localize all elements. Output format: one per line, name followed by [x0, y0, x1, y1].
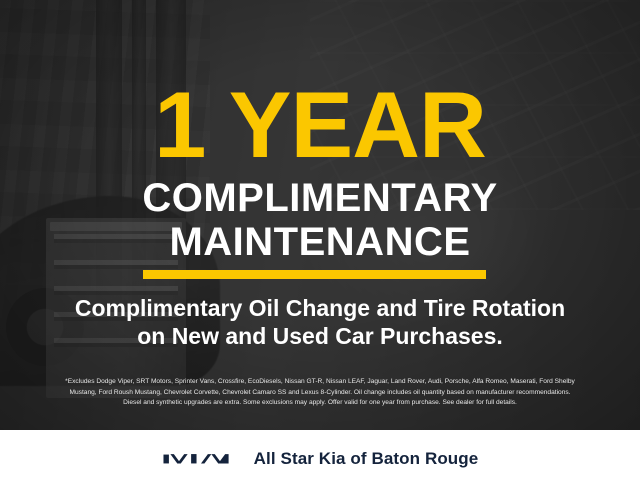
disclaimer-line-3: Diesel and synthetic upgrades are extra.… [12, 398, 628, 409]
banner-content: 1 YEAR COMPLIMENTARY MAINTENANCE Complim… [0, 0, 640, 488]
promotional-banner: 1 YEAR COMPLIMENTARY MAINTENANCE Complim… [0, 0, 640, 488]
headline-secondary-line2: MAINTENANCE [0, 222, 640, 262]
disclaimer-line-1: *Excludes Dodge Viper, SRT Motors, Sprin… [12, 377, 628, 388]
headline-secondary-line1: COMPLIMENTARY [0, 178, 640, 218]
yellow-divider-bar [143, 270, 486, 279]
headline-primary: 1 YEAR [0, 78, 640, 172]
disclaimer-text: *Excludes Dodge Viper, SRT Motors, Sprin… [12, 377, 628, 409]
subheadline-line2: on New and Used Car Purchases. [0, 322, 640, 351]
disclaimer-line-2: Mustang, Ford Roush Mustang, Chevrolet C… [12, 388, 628, 399]
subheadline-line1: Complimentary Oil Change and Tire Rotati… [0, 294, 640, 323]
